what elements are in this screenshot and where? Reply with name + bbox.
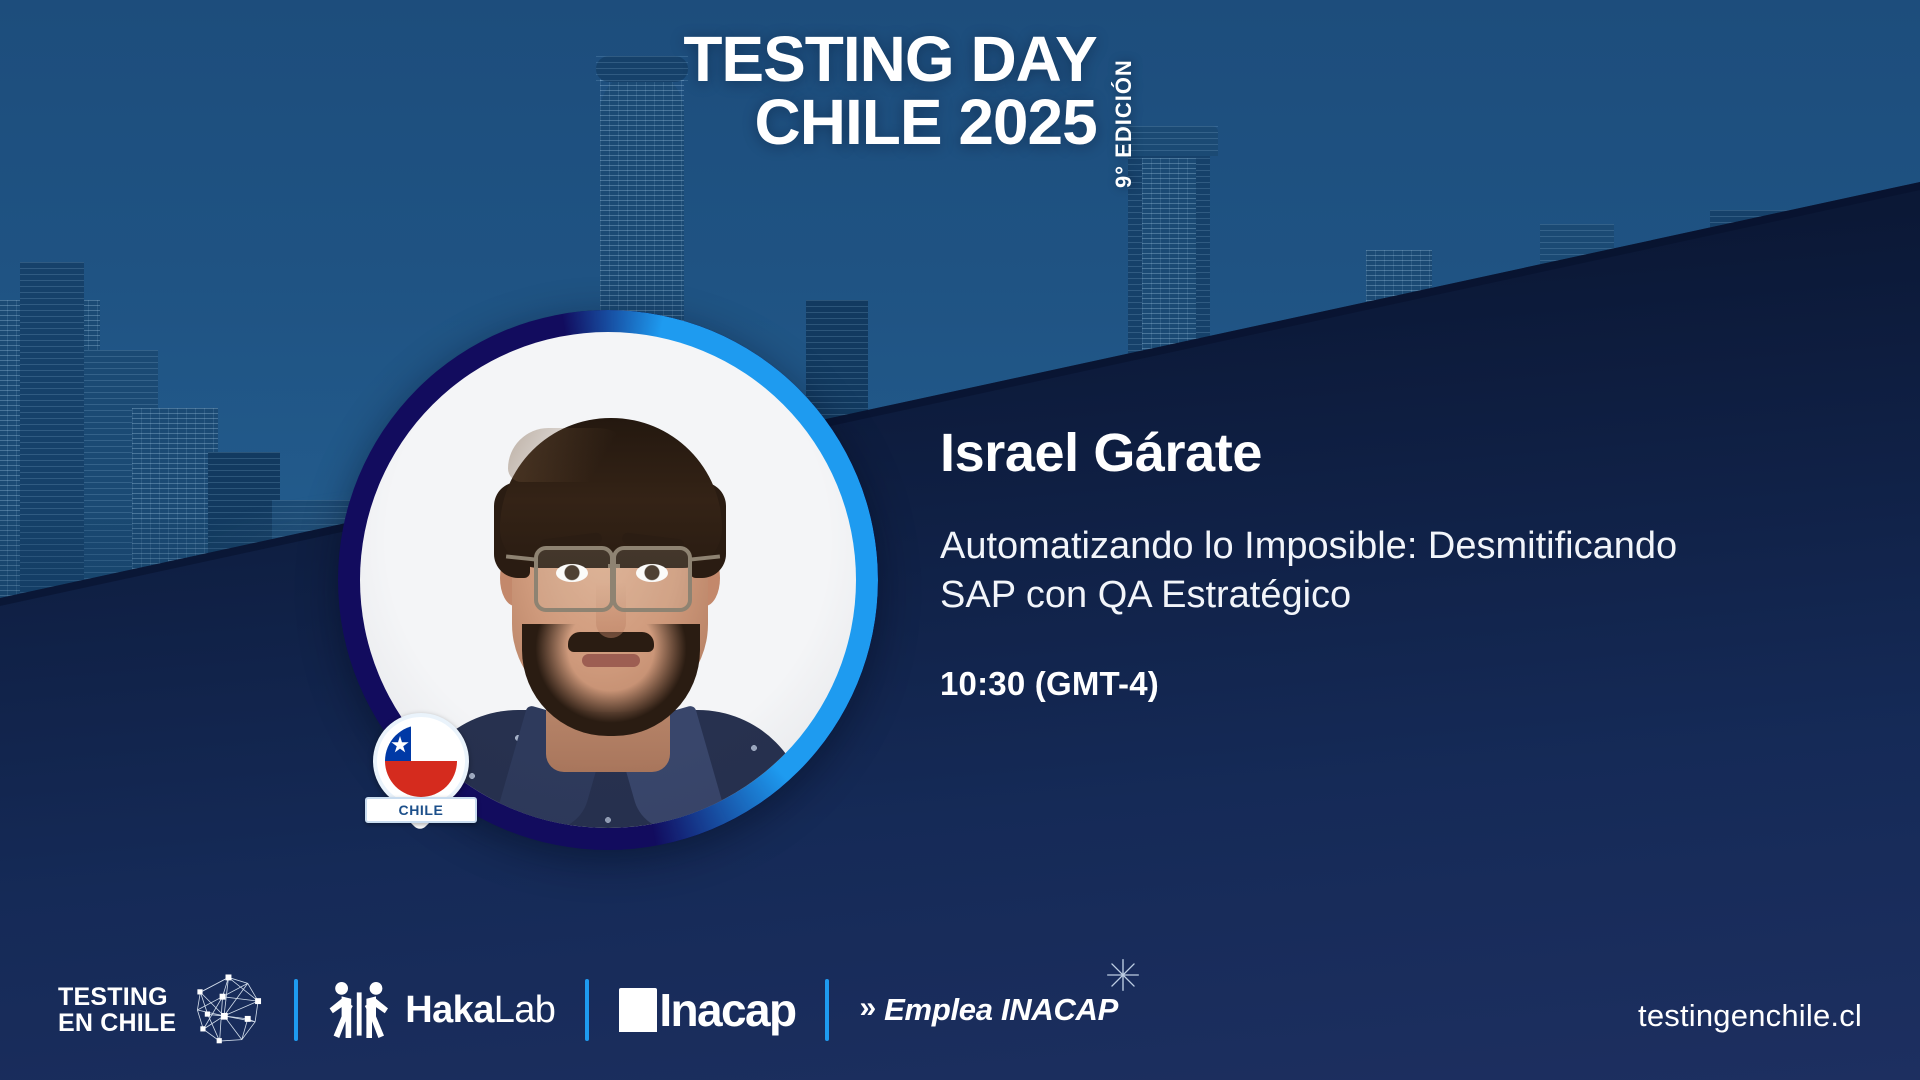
country-label: CHILE <box>365 797 477 823</box>
chevron-double-right-icon: » <box>859 991 876 1025</box>
sponsor-logo-haka-lab-text: HakaLab <box>405 989 555 1032</box>
event-speaker-slide: TESTING DAY CHILE 2025 9° EDICIÓN <box>0 0 1920 1080</box>
brain-network-icon <box>190 973 264 1047</box>
talk-time: 10:30 (GMT-4) <box>940 665 1770 703</box>
speaker-info-block: Israel Gárate Automatizando lo Imposible… <box>940 425 1770 703</box>
sponsor-logo-haka-lab[interactable]: HakaLab <box>328 979 555 1041</box>
sponsor-logo-emplea-inacap[interactable]: » Emplea INACAP <box>859 992 1118 1028</box>
footer-website[interactable]: testingenchile.cl <box>1638 998 1862 1034</box>
haka-name: Haka <box>405 989 493 1031</box>
footer-divider-3 <box>825 979 829 1041</box>
sponsor-logo-emplea-inacap-text: Emplea INACAP <box>884 992 1118 1028</box>
lab-name: Lab <box>494 989 556 1031</box>
organizer-logo-text: TESTING EN CHILE <box>58 984 176 1037</box>
country-label-text: CHILE <box>399 802 444 818</box>
website-url: testingenchile.cl <box>1638 998 1862 1034</box>
speaker-name: Israel Gárate <box>940 425 1770 482</box>
pin-head <box>373 713 469 809</box>
footer-bar: TESTING EN CHILE <box>0 940 1920 1080</box>
sponsor-logo-inacap[interactable]: Inacap <box>619 983 795 1037</box>
country-pin-badge: CHILE <box>365 713 477 831</box>
organizer-logo-line-2: EN CHILE <box>58 1010 176 1037</box>
square-block-icon <box>619 988 657 1032</box>
organizer-logo-testing-en-chile[interactable]: TESTING EN CHILE <box>58 973 264 1047</box>
footer-divider-2 <box>585 979 589 1041</box>
sparkle-star-icon <box>1106 958 1140 992</box>
footer-logos: TESTING EN CHILE <box>58 973 1118 1047</box>
sponsor-logo-inacap-text: Inacap <box>659 983 795 1037</box>
footer-divider-1 <box>294 979 298 1041</box>
organizer-logo-line-1: TESTING <box>58 984 176 1011</box>
chile-flag-icon <box>385 725 457 797</box>
talk-title: Automatizando lo Imposible: Desmitifican… <box>940 522 1700 619</box>
two-people-icon <box>328 979 392 1041</box>
